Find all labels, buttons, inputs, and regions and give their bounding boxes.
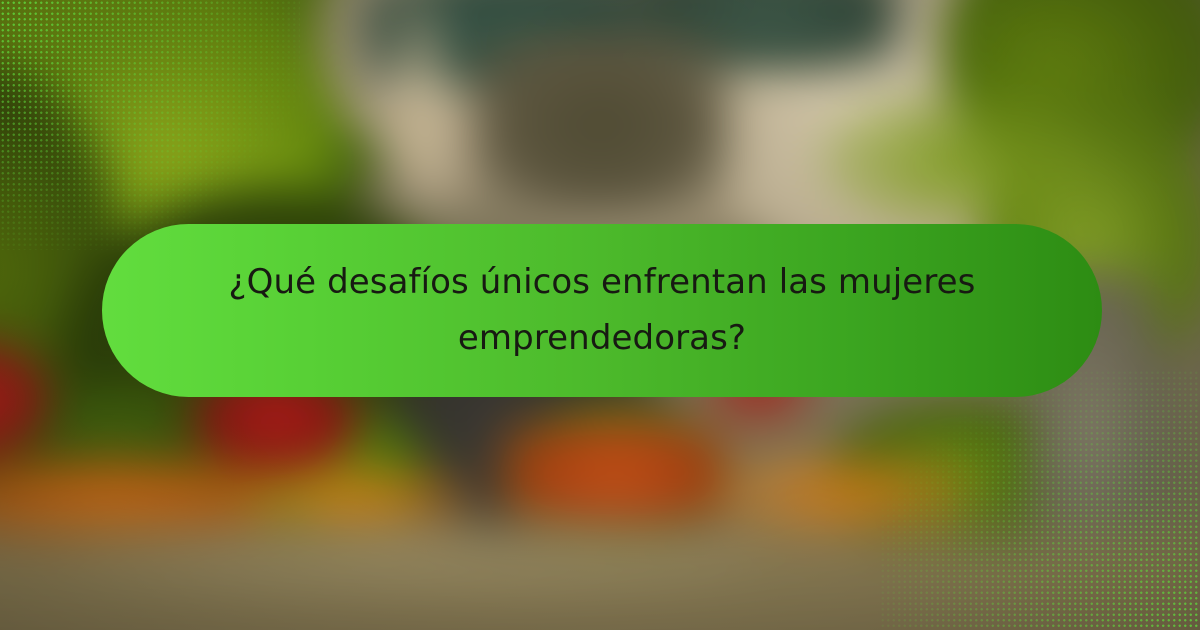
question-pill[interactable]: ¿Qué desafíos únicos enfrentan las mujer… [102,224,1102,397]
question-card-stage: ¿Qué desafíos únicos enfrentan las mujer… [0,0,1200,630]
question-text: ¿Qué desafíos únicos enfrentan las mujer… [222,255,982,365]
